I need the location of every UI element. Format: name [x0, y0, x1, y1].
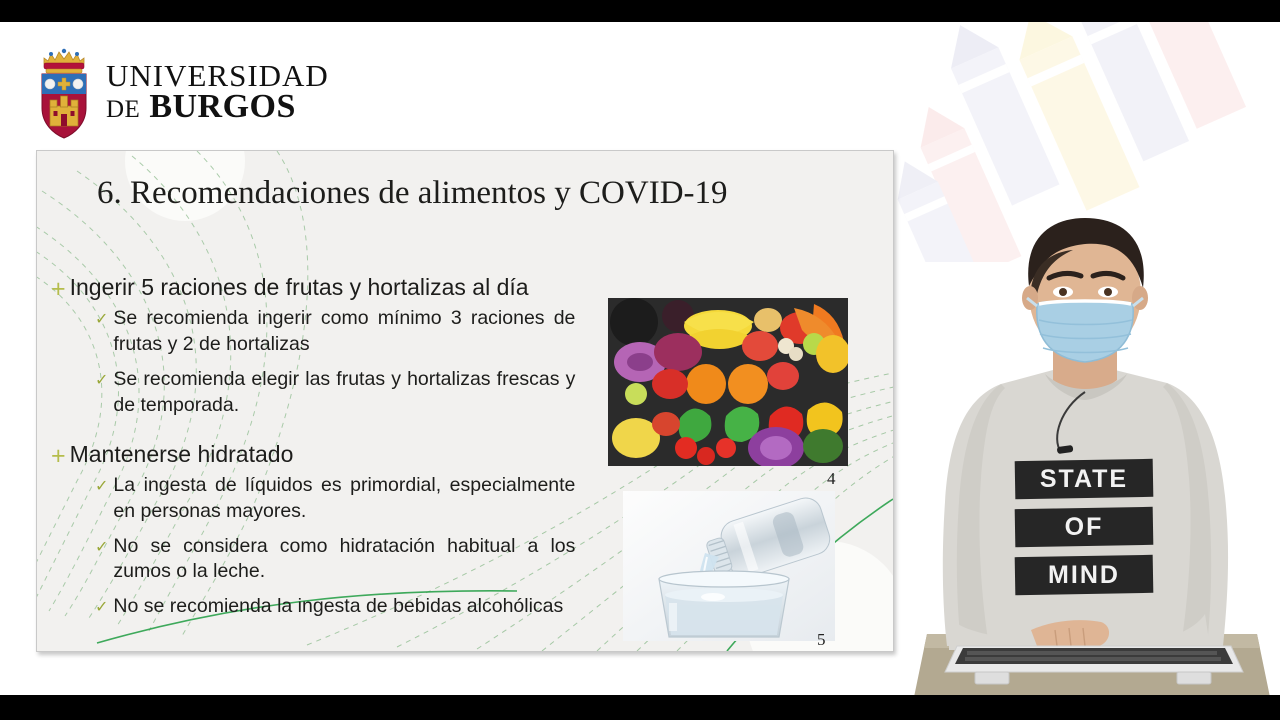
bullet-level1-text: Ingerir 5 raciones de frutas y hortaliza… [70, 274, 529, 301]
logo-line-2: DE BURGOS [106, 91, 329, 122]
presenter-video-overlay: STATE OF MIND [905, 202, 1280, 695]
plus-icon: + [51, 277, 66, 302]
letterbox-top [0, 0, 1280, 22]
bullet-level2: ✓ Se recomienda elegir las frutas y hort… [95, 367, 596, 419]
check-icon: ✓ [95, 479, 108, 495]
image-caption: 4 [827, 469, 836, 489]
bullet-level1: + Mantenerse hidratado [51, 441, 596, 469]
video-canvas: UNIVERSIDAD DE BURGOS [0, 22, 1280, 695]
logo-line-2-prefix: DE [106, 96, 140, 123]
coat-of-arms-icon [36, 42, 92, 142]
logo-line-2-main: BURGOS [149, 88, 296, 125]
image-caption: 5 [817, 630, 826, 650]
slide-body: + Ingerir 5 raciones de frutas y hortali… [51, 274, 596, 629]
letterbox-bottom [0, 695, 1280, 720]
bullet-level2-text: No se considera como hidratación habitua… [113, 534, 575, 586]
check-icon: ✓ [95, 540, 108, 556]
check-icon: ✓ [95, 600, 108, 616]
logo-wordmark: UNIVERSIDAD DE BURGOS [106, 62, 329, 122]
bullet-level2: ✓ No se recomienda la ingesta de bebidas… [95, 594, 596, 620]
svg-text:STATE: STATE [1040, 465, 1128, 493]
bullet-level1: + Ingerir 5 raciones de frutas y hortali… [51, 274, 596, 302]
fruits-and-vegetables-photo [608, 298, 848, 466]
bullet-level2-text: No se recomienda la ingesta de bebidas a… [113, 594, 575, 620]
svg-text:OF: OF [1065, 513, 1104, 541]
slide-title: 6. Recomendaciones de alimentos y COVID-… [97, 173, 857, 213]
bullet-level2: ✓ No se considera como hidratación habit… [95, 534, 596, 586]
svg-text:MIND: MIND [1048, 561, 1120, 589]
bullet-level2: ✓ Se recomienda ingerir como mínimo 3 ra… [95, 306, 596, 358]
surgical-mask [1027, 298, 1143, 362]
bullet-level2-text: Se recomienda elegir las frutas y hortal… [113, 367, 575, 419]
bullet-level2-text: Se recomienda ingerir como mínimo 3 raci… [113, 306, 575, 358]
logo-line-1: UNIVERSIDAD [106, 62, 329, 91]
bullet-level2-text: La ingesta de líquidos es primordial, es… [113, 473, 575, 525]
check-icon: ✓ [95, 312, 108, 328]
shirt-graphic: STATE OF MIND [1015, 459, 1154, 595]
video-frame: UNIVERSIDAD DE BURGOS [0, 0, 1280, 720]
bullet-level2: ✓ La ingesta de líquidos es primordial, … [95, 473, 596, 525]
check-icon: ✓ [95, 373, 108, 389]
pouring-water-photo [623, 491, 835, 641]
bullet-level1-text: Mantenerse hidratado [70, 441, 294, 468]
plus-icon: + [51, 444, 66, 469]
spacer [51, 428, 596, 441]
presentation-slide[interactable]: 6. Recomendaciones de alimentos y COVID-… [36, 150, 894, 652]
university-logo: UNIVERSIDAD DE BURGOS [36, 42, 329, 142]
